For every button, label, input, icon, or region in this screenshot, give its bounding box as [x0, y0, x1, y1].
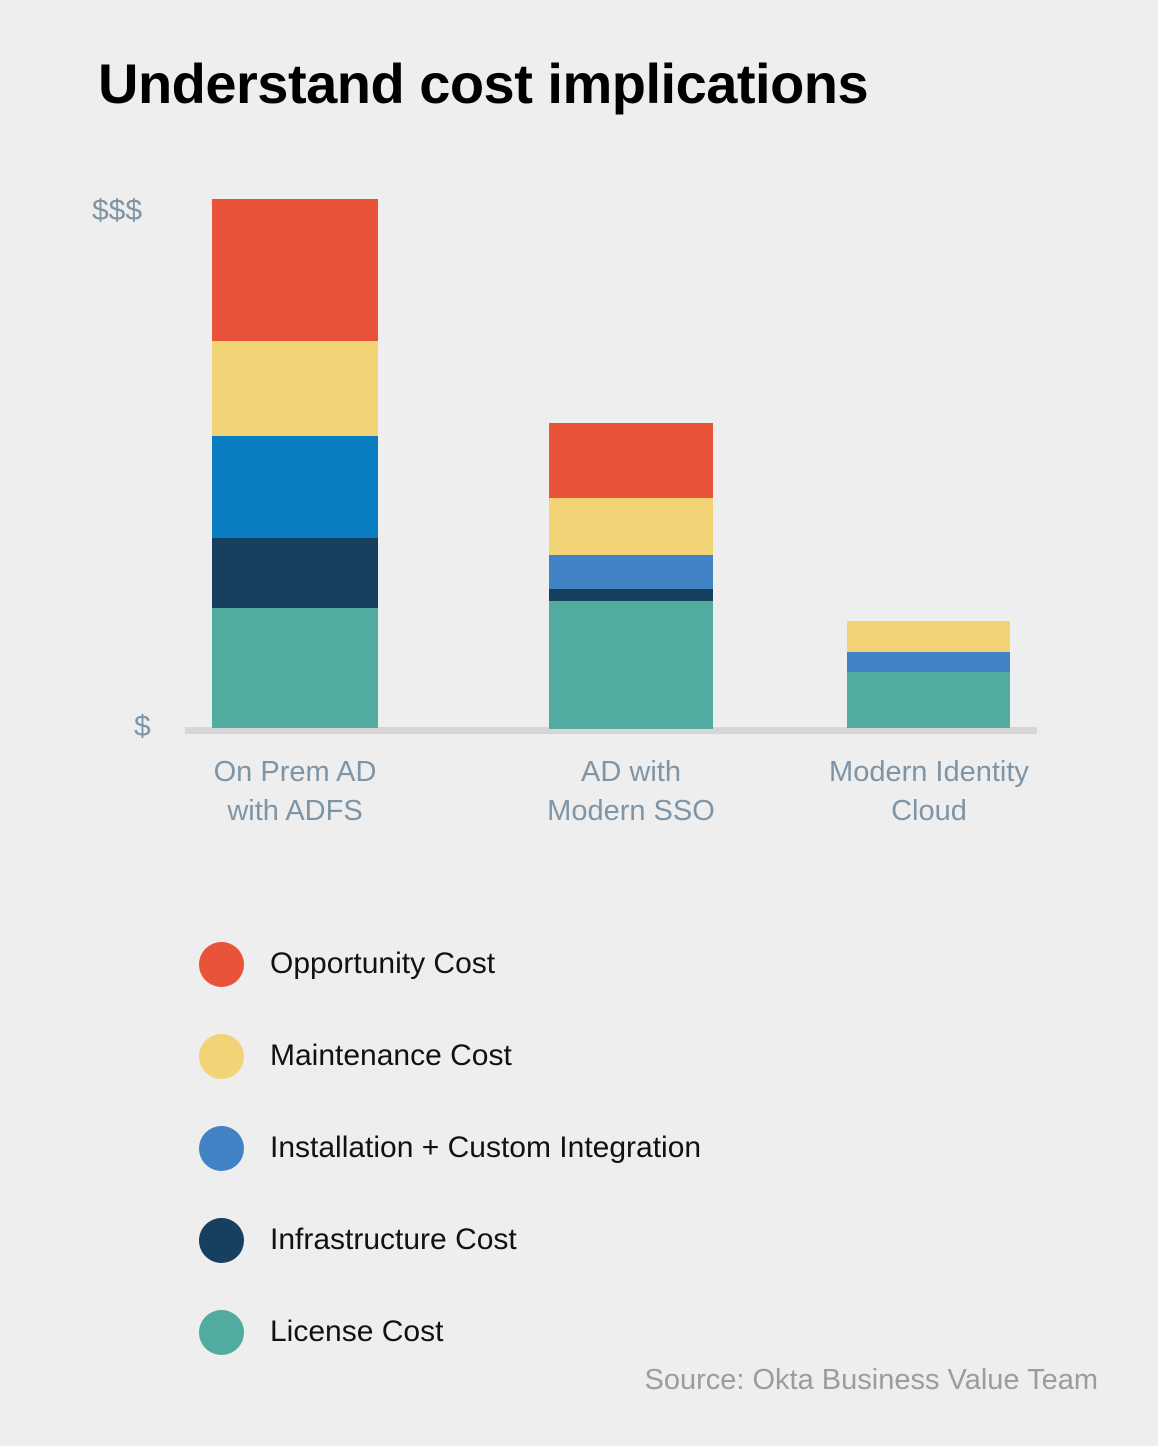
bar-segment-installation-custom-integration[interactable] — [847, 652, 1010, 672]
y-axis-min-label: $ — [134, 712, 151, 742]
bar-segment-infrastructure-cost[interactable] — [549, 589, 713, 601]
legend-item-infrastructure-cost[interactable]: Infrastructure Cost — [199, 1194, 899, 1286]
x-axis-category-label-2: Modern Identity Cloud — [799, 753, 1059, 831]
legend-swatch-icon-installation-custom-integration — [199, 1126, 244, 1171]
legend-item-maintenance-cost[interactable]: Maintenance Cost — [199, 1010, 899, 1102]
legend-swatch-icon-infrastructure-cost — [199, 1218, 244, 1263]
bar-segment-license-cost[interactable] — [549, 601, 713, 729]
plot-area: $$$ $ On Prem AD with ADFS AD with Moder… — [0, 0, 1158, 760]
bar-segment-license-cost[interactable] — [212, 608, 378, 728]
legend-label: Maintenance Cost — [270, 1039, 512, 1073]
legend-swatch-icon-maintenance-cost — [199, 1034, 244, 1079]
x-axis-category-label-1: AD with Modern SSO — [501, 753, 761, 831]
bar-modern-identity-cloud[interactable] — [847, 621, 1010, 728]
legend-label: Installation + Custom Integration — [270, 1131, 701, 1165]
x-axis-category-label-0: On Prem AD with ADFS — [165, 753, 425, 831]
legend-label: Infrastructure Cost — [270, 1223, 517, 1257]
legend-swatch-icon-opportunity-cost — [199, 942, 244, 987]
bar-segment-maintenance-cost[interactable] — [847, 621, 1010, 652]
bar-segment-infrastructure-cost[interactable] — [212, 538, 378, 608]
chart-legend: Opportunity CostMaintenance CostInstalla… — [199, 918, 899, 1378]
legend-label: License Cost — [270, 1315, 443, 1349]
bar-ad-with-modern-sso[interactable] — [549, 423, 713, 728]
legend-item-opportunity-cost[interactable]: Opportunity Cost — [199, 918, 899, 1010]
bar-segment-license-cost[interactable] — [847, 672, 1010, 728]
bar-segment-maintenance-cost[interactable] — [212, 341, 378, 436]
bar-segment-opportunity-cost[interactable] — [212, 199, 378, 341]
legend-label: Opportunity Cost — [270, 947, 495, 981]
bar-segment-installation-custom-integration[interactable] — [549, 555, 713, 589]
bar-segment-installation-custom-integration[interactable] — [212, 436, 378, 538]
chart-page: Understand cost implications $$$ $ On Pr… — [0, 0, 1158, 1446]
bar-on-prem-ad-with-adfs[interactable] — [212, 199, 378, 728]
bar-segment-opportunity-cost[interactable] — [549, 423, 713, 498]
y-axis-max-label: $$$ — [92, 196, 142, 226]
legend-item-installation-custom-integration[interactable]: Installation + Custom Integration — [199, 1102, 899, 1194]
source-note: Source: Okta Business Value Team — [645, 1364, 1099, 1397]
legend-swatch-icon-license-cost — [199, 1310, 244, 1355]
bar-segment-maintenance-cost[interactable] — [549, 498, 713, 555]
